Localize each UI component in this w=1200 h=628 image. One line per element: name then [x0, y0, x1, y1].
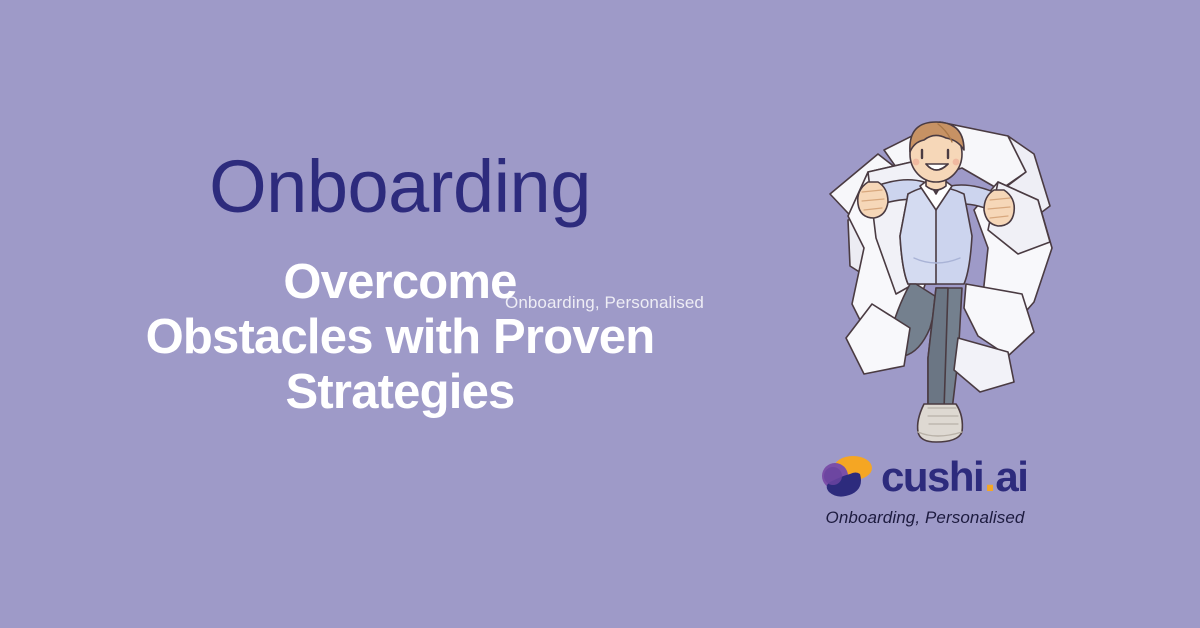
- logo-row: cushi . ai: [820, 452, 1052, 502]
- wordmark-suffix: ai: [995, 456, 1027, 498]
- promo-banner: Onboarding Overcome Obstacles with Prove…: [0, 0, 1200, 628]
- cushi-ai-wordmark: cushi . ai: [881, 456, 1027, 498]
- cushi-blob-mark-icon: [820, 454, 874, 500]
- headline: Overcome Obstacles with Proven Strategie…: [0, 255, 800, 420]
- wordmark-prefix: cushi: [881, 456, 983, 498]
- overlay-tagline: Onboarding, Personalised: [505, 294, 704, 311]
- hero-illustration: [812, 98, 1062, 446]
- brand-logo-lockup[interactable]: cushi . ai Onboarding, Personalised: [820, 452, 1052, 534]
- logo-tagline: Onboarding, Personalised: [820, 508, 1030, 528]
- headline-line-3: Strategies: [0, 365, 800, 420]
- wordmark-dot: .: [983, 456, 995, 498]
- headline-line-2: Obstacles with Proven: [0, 310, 800, 365]
- page-title: Onboarding: [0, 150, 800, 224]
- copy-block: Onboarding Overcome Obstacles with Prove…: [0, 0, 800, 628]
